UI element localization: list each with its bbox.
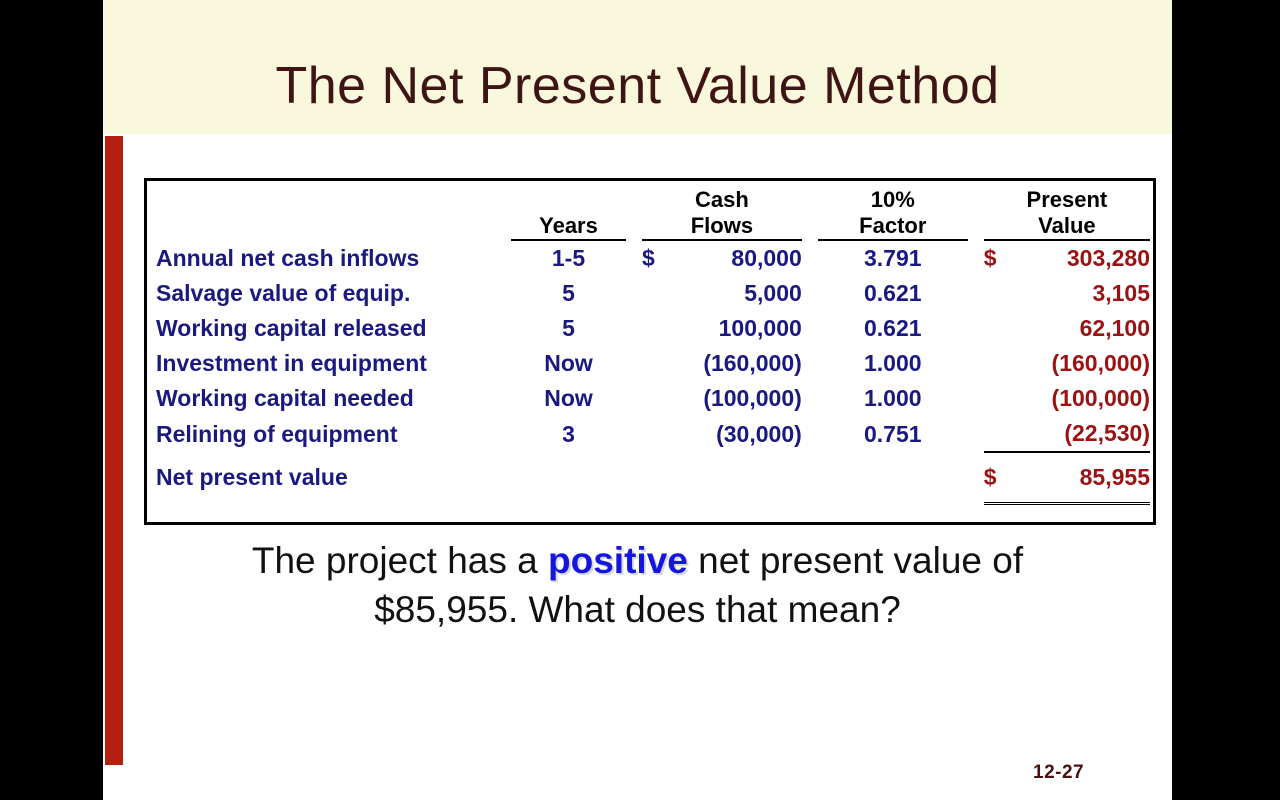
row-presentvalue: 303,280 <box>1018 240 1150 276</box>
row-factor: 0.621 <box>818 276 968 311</box>
header-gap-4 <box>626 213 642 240</box>
subtotal-rule-currency <box>984 452 1018 460</box>
row-cashflow: 100,000 <box>676 311 802 346</box>
row-gap-2 <box>802 416 818 452</box>
subtotal-rule-spacer-gap3 <box>968 452 984 460</box>
header-label-line2 <box>156 213 511 240</box>
caption-highlight-positive: positive <box>548 540 688 581</box>
header-label-line1 <box>156 187 511 213</box>
header-gap-1 <box>626 187 642 213</box>
row-factor: 3.791 <box>818 240 968 276</box>
subtotal-rule-spacer-flows <box>676 452 802 460</box>
caption: The project has a positive net present v… <box>103 536 1172 634</box>
row-gap-3 <box>968 276 984 311</box>
row-label: Relining of equipment <box>156 416 511 452</box>
subtotal-rule-spacer-label <box>156 452 511 460</box>
npv-table-frame: Cash 10% Present Years Flows Factor <box>144 178 1156 525</box>
row-gap-3 <box>968 416 984 452</box>
header-cashflows-line1: Cash <box>642 187 802 213</box>
header-row-line2: Years Flows Factor Value <box>156 213 1150 240</box>
slide-number: 12-27 <box>1033 762 1084 784</box>
row-presentvalue-currency <box>984 346 1018 381</box>
row-cashflow-currency <box>642 381 676 416</box>
header-years-line2: Years <box>511 213 626 240</box>
slide-canvas: The Net Present Value Method Cash 10% <box>103 0 1172 800</box>
slide-root: The Net Present Value Method Cash 10% <box>0 0 1280 800</box>
row-cashflow-currency <box>642 311 676 346</box>
row-gap-3 <box>968 311 984 346</box>
row-gap-3 <box>968 240 984 276</box>
row-label: Working capital needed <box>156 381 511 416</box>
header-gap-6 <box>968 213 984 240</box>
subtotal-rule-spacer-gap2 <box>802 452 818 460</box>
total-years <box>511 460 626 495</box>
total-double-rule-currency <box>984 495 1018 504</box>
header-gap-5 <box>802 213 818 240</box>
row-presentvalue-currency: $ <box>984 240 1018 276</box>
subtotal-rule-spacer-factor <box>818 452 968 460</box>
row-cashflow: (100,000) <box>676 381 802 416</box>
total-rule-spacer-years <box>511 495 626 504</box>
table-row: Working capital released 5 100,000 0.621… <box>156 311 1150 346</box>
npv-table: Cash 10% Present Years Flows Factor <box>156 187 1150 505</box>
row-presentvalue-currency <box>984 311 1018 346</box>
row-gap-1 <box>626 276 642 311</box>
row-cashflow-currency <box>642 346 676 381</box>
header-factor-line1: 10% <box>818 187 968 213</box>
row-gap-2 <box>802 311 818 346</box>
header-gap-2 <box>802 187 818 213</box>
row-presentvalue-currency <box>984 276 1018 311</box>
total-rule-spacer-factor <box>818 495 968 504</box>
table-row: Working capital needed Now (100,000) 1.0… <box>156 381 1150 416</box>
row-gap-3 <box>968 381 984 416</box>
row-gap-1 <box>626 381 642 416</box>
row-factor: 1.000 <box>818 381 968 416</box>
total-cashflow-currency <box>642 460 676 495</box>
row-presentvalue: 62,100 <box>1018 311 1150 346</box>
total-presentvalue-currency: $ <box>984 460 1018 495</box>
subtotal-rule-spacer-years <box>511 452 626 460</box>
total-rule-spacer-gap1 <box>626 495 642 504</box>
row-gap-2 <box>802 276 818 311</box>
row-presentvalue: (22,530) <box>1018 416 1150 452</box>
row-years: 3 <box>511 416 626 452</box>
row-presentvalue: (160,000) <box>1018 346 1150 381</box>
row-gap-2 <box>802 346 818 381</box>
row-years: Now <box>511 381 626 416</box>
total-label: Net present value <box>156 460 511 495</box>
row-presentvalue: 3,105 <box>1018 276 1150 311</box>
table-row: Annual net cash inflows 1-5 $ 80,000 3.7… <box>156 240 1150 276</box>
header-presentvalue-line1: Present <box>984 187 1150 213</box>
row-cashflow: 80,000 <box>676 240 802 276</box>
row-cashflow: 5,000 <box>676 276 802 311</box>
npv-table-body: Annual net cash inflows 1-5 $ 80,000 3.7… <box>156 240 1150 504</box>
total-gap-1 <box>626 460 642 495</box>
total-double-rule-row <box>156 495 1150 504</box>
caption-line-2: $85,955. What does that mean? <box>103 585 1172 634</box>
row-label: Annual net cash inflows <box>156 240 511 276</box>
row-factor: 0.751 <box>818 416 968 452</box>
row-gap-1 <box>626 240 642 276</box>
total-double-rule-presentvalue <box>1018 495 1150 504</box>
row-cashflow: (30,000) <box>676 416 802 452</box>
header-gap-3 <box>968 187 984 213</box>
row-factor: 0.621 <box>818 311 968 346</box>
header-cashflows-line2: Flows <box>642 213 802 240</box>
total-gap-3 <box>968 460 984 495</box>
row-presentvalue: (100,000) <box>1018 381 1150 416</box>
row-gap-1 <box>626 311 642 346</box>
row-label: Working capital released <box>156 311 511 346</box>
row-cashflow-currency <box>642 416 676 452</box>
row-years: Now <box>511 346 626 381</box>
caption-part-1: The project has a <box>252 540 548 581</box>
row-label: Salvage value of equip. <box>156 276 511 311</box>
total-cashflow <box>676 460 802 495</box>
page-title: The Net Present Value Method <box>103 56 1172 116</box>
subtotal-rule-spacer-gap1 <box>626 452 642 460</box>
row-gap-1 <box>626 346 642 381</box>
table-row: Relining of equipment 3 (30,000) 0.751 (… <box>156 416 1150 452</box>
total-factor <box>818 460 968 495</box>
row-factor: 1.000 <box>818 346 968 381</box>
subtotal-rule-spacer-cur1 <box>642 452 676 460</box>
total-rule-spacer-cur1 <box>642 495 676 504</box>
subtotal-rule-presentvalue <box>1018 452 1150 460</box>
row-cashflow-currency <box>642 276 676 311</box>
row-cashflow: (160,000) <box>676 346 802 381</box>
total-rule-spacer-gap2 <box>802 495 818 504</box>
header-row-line1: Cash 10% Present <box>156 187 1150 213</box>
row-label: Investment in equipment <box>156 346 511 381</box>
row-gap-1 <box>626 416 642 452</box>
subtotal-rule-row <box>156 452 1150 460</box>
table-row: Investment in equipment Now (160,000) 1.… <box>156 346 1150 381</box>
row-presentvalue-currency <box>984 381 1018 416</box>
row-gap-2 <box>802 240 818 276</box>
npv-table-head: Cash 10% Present Years Flows Factor <box>156 187 1150 240</box>
row-years: 1-5 <box>511 240 626 276</box>
row-gap-3 <box>968 346 984 381</box>
row-gap-2 <box>802 381 818 416</box>
row-years: 5 <box>511 311 626 346</box>
table-row-total: Net present value $ 85,955 <box>156 460 1150 495</box>
caption-part-2: net present value of <box>688 540 1023 581</box>
row-years: 5 <box>511 276 626 311</box>
total-gap-2 <box>802 460 818 495</box>
caption-line-1: The project has a positive net present v… <box>103 536 1172 585</box>
accent-bar <box>105 136 123 765</box>
row-presentvalue-currency <box>984 416 1018 452</box>
row-cashflow-currency: $ <box>642 240 676 276</box>
total-presentvalue: 85,955 <box>1018 460 1150 495</box>
total-rule-spacer-flows <box>676 495 802 504</box>
total-rule-spacer-gap3 <box>968 495 984 504</box>
title-band: The Net Present Value Method <box>103 0 1172 134</box>
header-factor-line2: Factor <box>818 213 968 240</box>
table-row: Salvage value of equip. 5 5,000 0.621 3,… <box>156 276 1150 311</box>
total-rule-spacer-label <box>156 495 511 504</box>
header-presentvalue-line2: Value <box>984 213 1150 240</box>
header-years-line1 <box>511 187 626 213</box>
